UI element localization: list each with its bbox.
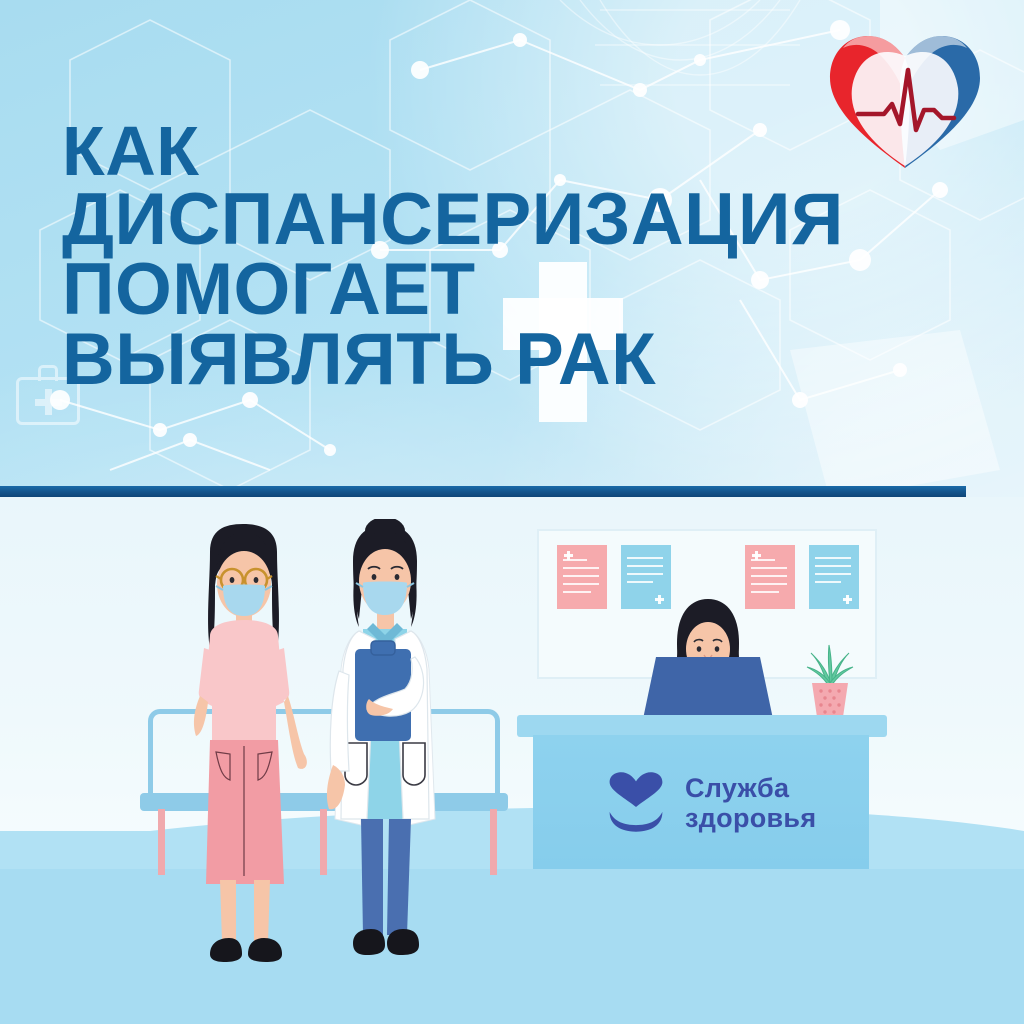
clinic-illustration: Служба здоровья [0, 497, 1024, 1024]
figure-doctor [315, 519, 455, 969]
reception-desk-group: Служба здоровья [515, 497, 915, 869]
wall-poster [809, 545, 859, 609]
heart-ecg-icon [822, 26, 988, 176]
headline-line-3: ПОМОГАЕТ [62, 255, 972, 325]
desk-front-panel: Служба здоровья [533, 735, 869, 869]
desk-counter-top [517, 715, 887, 737]
floor-shade [0, 869, 1024, 1024]
headline-line-4: ВЫЯВЛЯТЬ РАК [62, 325, 972, 395]
heart-smile-icon [603, 771, 669, 833]
poster-canvas: КАК ДИСПАНСЕРИЗАЦИЯ ПОМОГАЕТ ВЫЯВЛЯТЬ РА… [0, 0, 1024, 1024]
wall-poster [557, 545, 607, 609]
headline-line-2: ДИСПАНСЕРИЗАЦИЯ [62, 185, 972, 255]
brand-logo-line-2: здоровья [685, 803, 816, 833]
figure-patient [180, 524, 310, 967]
brand-logo-line-1: Служба [685, 773, 816, 803]
brand-logo: Служба здоровья [603, 771, 853, 843]
laptop[interactable] [643, 657, 773, 719]
divider-rule [0, 486, 966, 497]
potted-plant [803, 639, 857, 719]
